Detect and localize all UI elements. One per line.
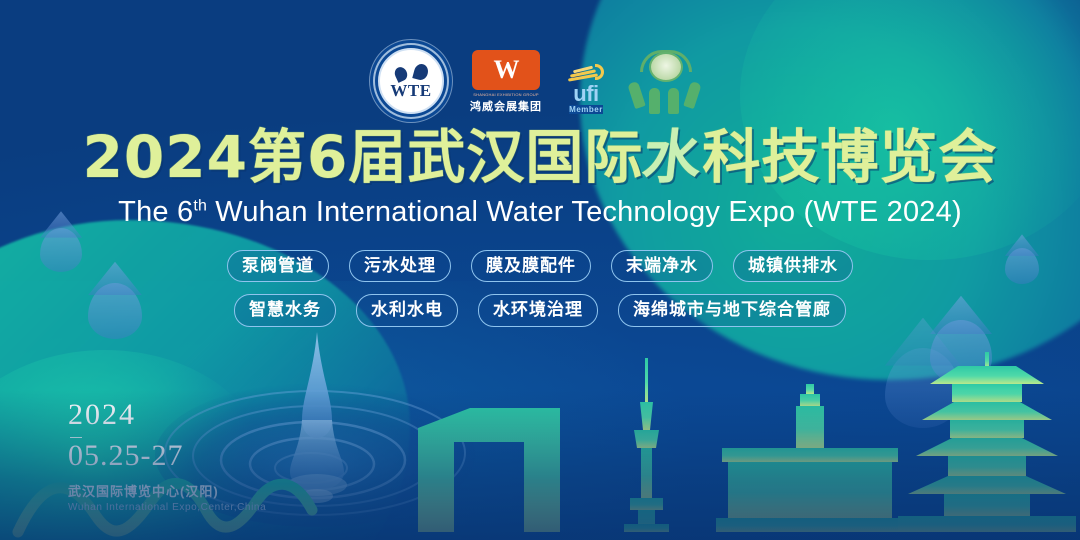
page-title-cn: 2024第6届武汉国际水科技博览会 (0, 128, 1080, 186)
category-tag[interactable]: 城镇供排水 (733, 250, 853, 282)
hongwei-logo-cn: 鸿威会展集团 (470, 98, 542, 114)
water-drop-hearts-icon (394, 65, 428, 81)
title-en-ordinal: th (193, 197, 207, 214)
category-tag-list: 泵阀管道 污水处理 膜及膜配件 末端净水 城镇供排水 智慧水务 水利水电 水环境… (0, 250, 1080, 327)
category-tag-row-1: 泵阀管道 污水处理 膜及膜配件 末端净水 城镇供排水 (227, 250, 853, 282)
venue-name-cn: 武汉国际博览中心(汉阳) (68, 481, 266, 500)
venue-name-en: Wuhan International Expo,Center,China (68, 502, 266, 513)
hongwei-logo: W SHANGHAI EXHIBITION GROUP 鸿威会展集团 (470, 36, 542, 114)
category-tag[interactable]: 海绵城市与地下综合管廊 (618, 294, 846, 326)
category-tag[interactable]: 水环境治理 (478, 294, 598, 326)
date-venue-block: 2024 05.25-27 武汉国际博览中心(汉阳) Wuhan Interna… (68, 400, 266, 513)
arch-building-icon (418, 408, 560, 532)
classical-hall-icon (716, 384, 904, 532)
ufi-member-label: Member (569, 105, 603, 114)
title-cn-part1: 2024第6届武汉国际 (83, 123, 644, 191)
hongwei-mark-icon: W (472, 50, 540, 90)
category-tag[interactable]: 泵阀管道 (227, 250, 329, 282)
title-en-post: Wuhan International Water Technology Exp… (207, 196, 962, 228)
title-cn-water-glyph: 水 (640, 128, 705, 186)
tv-tower-icon (624, 358, 669, 532)
ufi-logo-text: ufi (573, 84, 598, 105)
category-tag-row-2: 智慧水务 水利水电 水环境治理 海绵城市与地下综合管廊 (234, 294, 846, 326)
category-tag[interactable]: 智慧水务 (234, 294, 336, 326)
category-tag[interactable]: 污水处理 (349, 250, 451, 282)
hongwei-logo-en: SHANGHAI EXHIBITION GROUP (473, 92, 538, 97)
category-tag[interactable]: 膜及膜配件 (471, 250, 591, 282)
title-en-pre: The 6 (118, 196, 193, 228)
wte-logo: WTE (378, 36, 444, 114)
yellow-crane-tower-icon (898, 352, 1076, 532)
category-tag[interactable]: 末端净水 (611, 250, 713, 282)
event-year: 2024 (68, 400, 266, 430)
event-dates: 05.25-27 (68, 441, 266, 471)
logo-strip: WTE W SHANGHAI EXHIBITION GROUP 鸿威会展集团 u… (0, 36, 1080, 114)
ufi-wing-icon (568, 67, 604, 84)
title-cn-part2: 科技博览会 (702, 123, 997, 191)
category-tag[interactable]: 水利水电 (356, 294, 458, 326)
wte-logo-text: WTE (390, 82, 431, 99)
iwa-logo (630, 36, 702, 114)
ufi-logo: ufi Member (568, 36, 604, 114)
page-title-en: The 6th Wuhan International Water Techno… (0, 196, 1080, 229)
expo-poster: WTE W SHANGHAI EXHIBITION GROUP 鸿威会展集团 u… (0, 0, 1080, 540)
divider (70, 437, 82, 438)
iwa-figures-icon (630, 74, 702, 114)
